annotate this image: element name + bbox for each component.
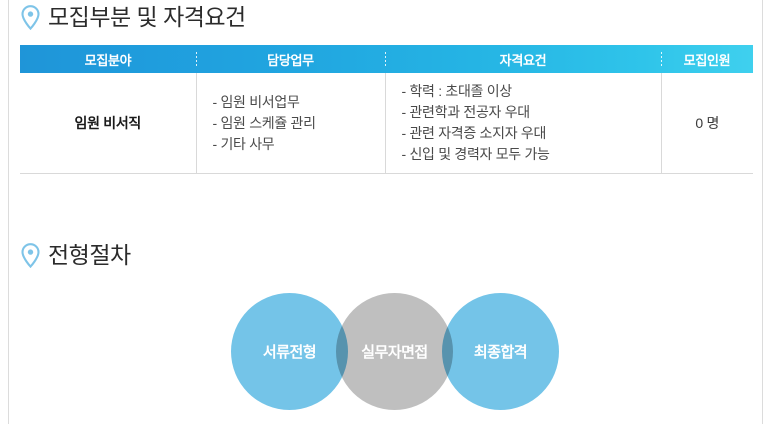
section-heading-process: 전형절차 [20,243,131,268]
table-row: 임원 비서직 - 임원 비서업무 - 임원 스케쥴 관리 - 기타 사무 - 학… [20,73,753,174]
process-circle-document-screening [231,293,348,410]
duties-list: - 임원 비서업무 - 임원 스케쥴 관리 - 기타 사무 [213,92,385,155]
process-diagram: 서류전형 실무자면접 최종합격 [231,293,559,411]
table-header-row: 모집분야 담당업무 자격요건 모집인원 [20,45,753,73]
cell-headcount: 0 명 [661,73,753,174]
column-header-qualifications: 자격요건 [385,45,661,73]
recruitment-table: 모집분야 담당업무 자격요건 모집인원 임원 비서직 - 임원 비서업무 - 임… [20,45,753,174]
process-circle-final-acceptance [442,293,559,410]
list-item: - 관련학과 전공자 우대 [402,102,661,123]
list-item: - 학력 : 초대졸 이상 [402,81,661,102]
list-item: - 관련 자격증 소지자 우대 [402,123,661,144]
section-heading-recruitment: 모집부분 및 자격요건 [20,5,246,30]
list-item: - 임원 비서업무 [213,92,385,113]
cell-qualifications: - 학력 : 초대졸 이상 - 관련학과 전공자 우대 - 관련 자격증 소지자… [385,73,661,174]
list-item: - 신입 및 경력자 모두 가능 [402,144,661,165]
page-content: 모집부분 및 자격요건 모집분야 담당업무 자격요건 모집인원 임원 비서직 -… [0,0,775,424]
process-circle-practical-interview [336,293,453,410]
map-pin-icon [20,5,41,30]
section-title-process: 전형절차 [48,244,131,267]
cell-field: 임원 비서직 [20,73,196,174]
page-title: 모집부분 및 자격요건 [48,6,246,29]
table-body: 임원 비서직 - 임원 비서업무 - 임원 스케쥴 관리 - 기타 사무 - 학… [20,73,753,174]
column-header-headcount: 모집인원 [661,45,753,73]
list-item: - 임원 스케쥴 관리 [213,113,385,134]
column-header-field: 모집분야 [20,45,196,73]
table-head: 모집분야 담당업무 자격요건 모집인원 [20,45,753,73]
list-item: - 기타 사무 [213,134,385,155]
cell-duties: - 임원 비서업무 - 임원 스케쥴 관리 - 기타 사무 [196,73,385,174]
map-pin-icon [20,243,41,268]
qualifications-list: - 학력 : 초대졸 이상 - 관련학과 전공자 우대 - 관련 자격증 소지자… [402,81,661,165]
column-header-duties: 담당업무 [196,45,385,73]
